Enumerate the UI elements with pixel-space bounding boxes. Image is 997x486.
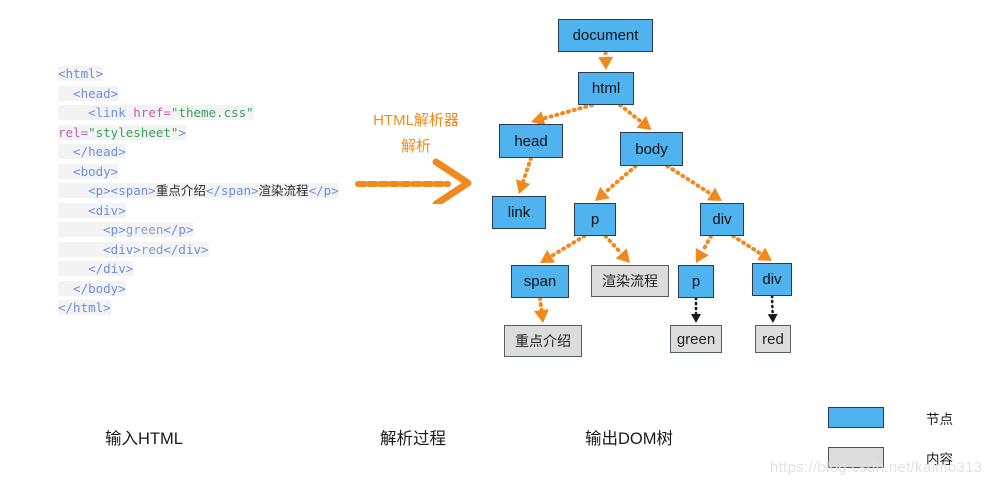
dom-node-label: p	[692, 273, 700, 290]
dom-node-text3: green	[670, 325, 722, 353]
tree-arrowhead	[768, 314, 778, 323]
section-caption: 输出DOM树	[585, 425, 673, 449]
section-caption: 解析过程	[380, 425, 446, 449]
dom-node-body: body	[620, 132, 683, 166]
dom-node-html: html	[578, 72, 634, 105]
tree-edge-html-head	[544, 105, 592, 119]
dom-node-p2: p	[678, 265, 714, 298]
dom-node-label: div	[712, 211, 731, 228]
dom-node-div1: div	[700, 203, 744, 236]
tree-arrowhead	[707, 188, 722, 201]
dom-node-label: 渲染流程	[602, 271, 658, 291]
legend-label: 节点	[926, 408, 953, 428]
tree-edge-div1-p2	[702, 236, 711, 252]
legend-row-node: 节点	[828, 404, 953, 431]
tree-edge-div1-div2	[733, 236, 761, 254]
dom-node-label: p	[591, 211, 599, 228]
dom-node-label: body	[635, 141, 668, 158]
dom-tree: documenthtmlheadbodylinkpdivspan渲染流程pdiv…	[0, 0, 997, 400]
dom-node-label: head	[514, 133, 547, 150]
tree-arrowhead	[691, 314, 701, 323]
tree-arrowhead	[598, 57, 613, 70]
dom-node-span: span	[511, 265, 569, 298]
dom-node-label: div	[762, 271, 781, 288]
tree-edge-head-link	[523, 158, 531, 182]
tree-edge-html-body	[620, 105, 641, 122]
tree-arrowhead	[696, 248, 709, 263]
tree-edge-body-div1	[667, 166, 711, 194]
section-caption: 输入HTML	[105, 425, 183, 449]
tree-edge-div2-text4	[772, 296, 773, 314]
dom-node-document: document	[558, 19, 653, 52]
dom-node-label: red	[762, 331, 784, 348]
dom-node-text2: 重点介绍	[504, 325, 582, 357]
legend-swatch	[828, 407, 884, 428]
dom-node-label: 重点介绍	[515, 331, 571, 351]
dom-node-label: span	[524, 273, 557, 290]
dom-node-p1: p	[574, 203, 616, 236]
dom-node-label: green	[677, 331, 715, 348]
watermark: https://blog.csdn.net/kaimo313	[770, 459, 982, 476]
dom-node-text4: red	[755, 325, 791, 353]
dom-node-text1: 渲染流程	[591, 265, 669, 297]
tree-edge-body-p1	[605, 166, 636, 193]
dom-node-div2: div	[752, 263, 792, 296]
tree-edge-p1-span	[551, 236, 584, 256]
dom-node-label: html	[592, 80, 620, 97]
tree-edge-span-text2	[540, 298, 541, 310]
tree-edge-p1-text1	[606, 236, 622, 253]
dom-node-link: link	[492, 196, 546, 229]
dom-node-label: document	[573, 27, 639, 44]
tree-arrowhead	[534, 309, 549, 323]
dom-node-label: link	[508, 204, 531, 221]
dom-node-head: head	[499, 124, 563, 158]
